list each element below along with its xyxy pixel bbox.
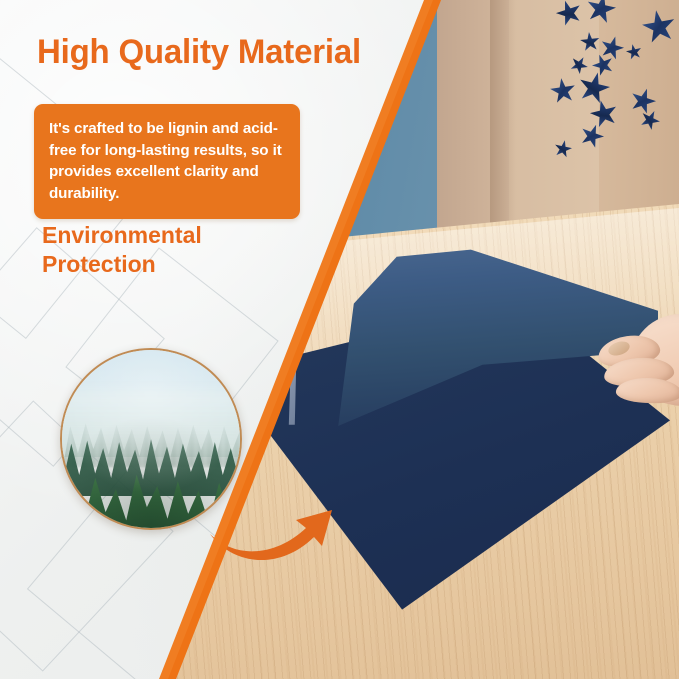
star-icon [563, 97, 587, 121]
star-icon [632, 54, 667, 89]
star-icon [579, 31, 601, 53]
star-icon [548, 76, 577, 105]
feature-callout-box: It's crafted to be lignin and acid-free … [34, 104, 300, 219]
callout-text: It's crafted to be lignin and acid-free … [49, 118, 285, 204]
page-title: High Quality Material [37, 33, 361, 72]
finger-ring [616, 377, 679, 404]
paper-stars-decoration [534, 0, 679, 202]
star-icon [645, 37, 667, 59]
curved-arrow-icon [208, 492, 348, 562]
star-icon [603, 79, 627, 103]
star-icon [625, 43, 644, 62]
star-icon [548, 26, 582, 60]
star-icon [583, 0, 619, 27]
hand [596, 296, 679, 416]
star-icon [577, 121, 608, 152]
star-icon [637, 107, 664, 134]
product-infographic: High Quality Material It's crafted to be… [0, 0, 679, 679]
star-icon [611, 131, 644, 164]
star-icon [587, 97, 621, 131]
star-icon [567, 53, 592, 78]
star-icon [621, 0, 646, 21]
star-icon [575, 69, 614, 108]
star-icon [627, 85, 660, 118]
star-icon [553, 0, 586, 29]
section-subtitle: Environmental Protection [42, 221, 202, 280]
star-icon [552, 138, 573, 159]
star-icon [639, 7, 678, 46]
